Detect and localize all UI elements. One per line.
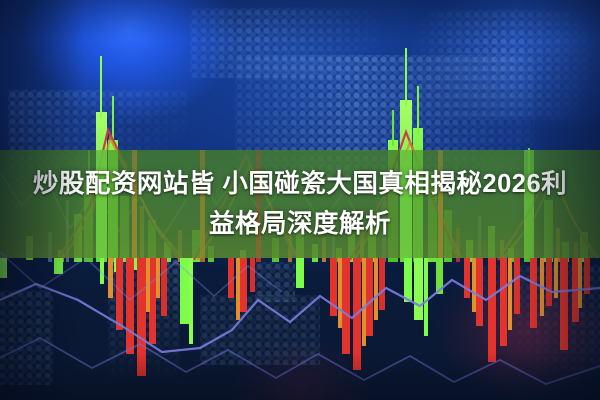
thumbnail-banner: 炒股配资网站皆 小国碰瓷大国真相揭秘2026利 益格局深度解析	[0, 0, 600, 400]
edge-vignette	[0, 0, 600, 400]
